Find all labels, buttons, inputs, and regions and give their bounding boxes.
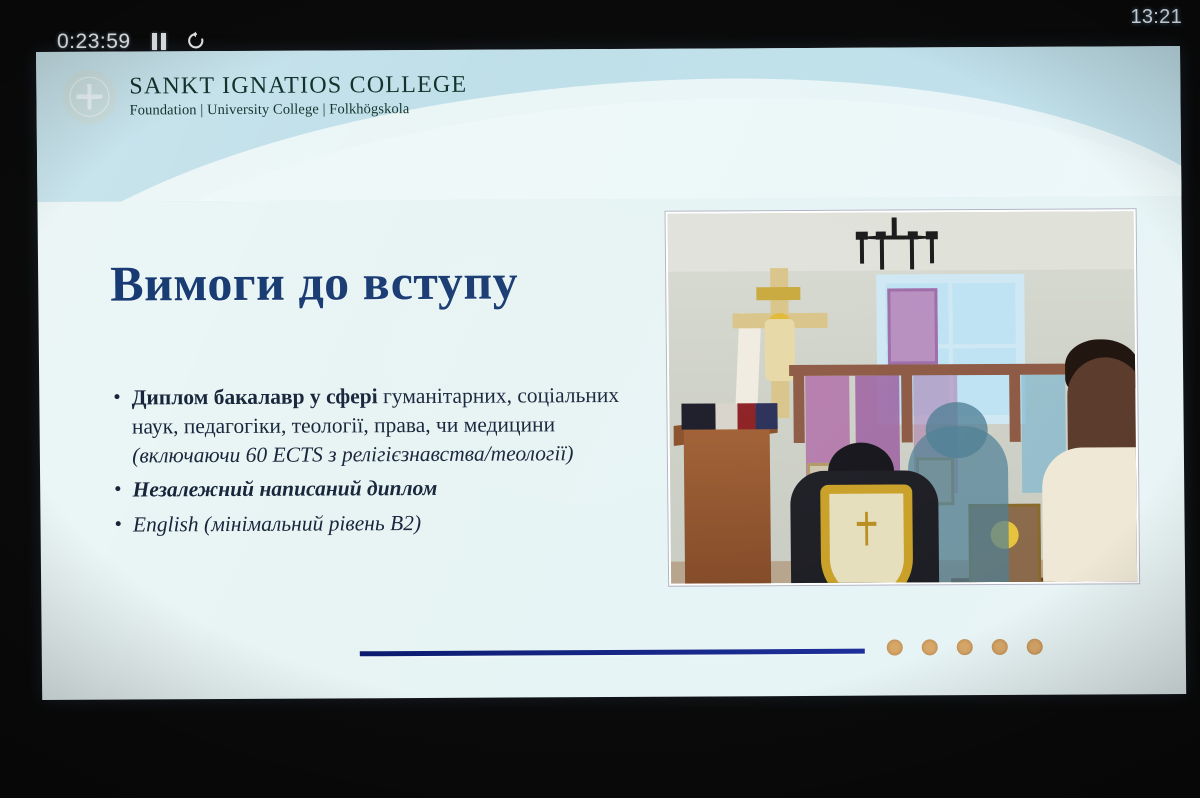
presentation-toolbar — [0, 700, 1200, 798]
priest-stole — [820, 484, 913, 585]
chandelier-icon — [844, 217, 949, 274]
logo-title: SANKT IGNATIOS COLLEGE — [129, 72, 467, 100]
bullet-marker: • — [114, 511, 122, 540]
restart-icon[interactable] — [186, 31, 206, 51]
chapel-interior-photo — [666, 209, 1140, 585]
list-item: • Диплом бакалавр у сфері гуманітарних, … — [113, 381, 659, 470]
progress-dot — [992, 639, 1008, 655]
bullet-list: • Диплом бакалавр у сфері гуманітарних, … — [113, 381, 660, 546]
college-logo: SANKT IGNATIOS COLLEGE Foundation | Univ… — [62, 68, 467, 124]
progress-dot — [957, 639, 973, 655]
slide-area[interactable]: SANKT IGNATIOS COLLEGE Foundation | Univ… — [36, 46, 1186, 700]
progress-dot — [1027, 639, 1043, 655]
system-clock: 13:21 — [1130, 6, 1182, 29]
slide: SANKT IGNATIOS COLLEGE Foundation | Univ… — [36, 46, 1186, 700]
slide-progress-bar — [360, 649, 865, 657]
bullet-marker: • — [114, 476, 122, 505]
list-item: • English (мінімальний рівень B2) — [114, 508, 659, 540]
pause-icon[interactable] — [152, 33, 167, 50]
slide-title: Вимоги до вступу — [110, 252, 518, 312]
bullet-text: Диплом бакалавр у сфері гуманітарних, со… — [132, 381, 659, 470]
sankt-ignatios-emblem-icon — [62, 70, 117, 124]
progress-dot — [887, 639, 903, 655]
presentation-timer: 0:23:59 — [57, 30, 131, 54]
list-item: • Незалежний написаний диплом — [114, 473, 659, 505]
bullet-segment-bold: Диплом бакалавр у сфері — [132, 384, 384, 409]
progress-dots — [887, 639, 1043, 656]
bullet-segment-italic: (включаючи 60 ECTS з релігієзнавства/тео… — [132, 441, 573, 467]
projector-screenshot: 0:23:59 13:21 SANKT IGNATIOS COLLEGE Fou — [0, 0, 1200, 798]
bullet-segment-italic-2: (мінімальний рівень B2) — [204, 511, 421, 536]
bullet-text: English (мінімальний рівень B2) — [133, 509, 421, 539]
logo-text: SANKT IGNATIOS COLLEGE Foundation | Univ… — [129, 72, 467, 119]
bullet-text: Незалежний написаний диплом — [132, 474, 437, 504]
logo-subtitle: Foundation | University College | Folkhö… — [129, 101, 467, 119]
bullet-segment-italic: English — [133, 512, 204, 536]
progress-dot — [922, 639, 938, 655]
bullet-marker: • — [113, 384, 121, 470]
